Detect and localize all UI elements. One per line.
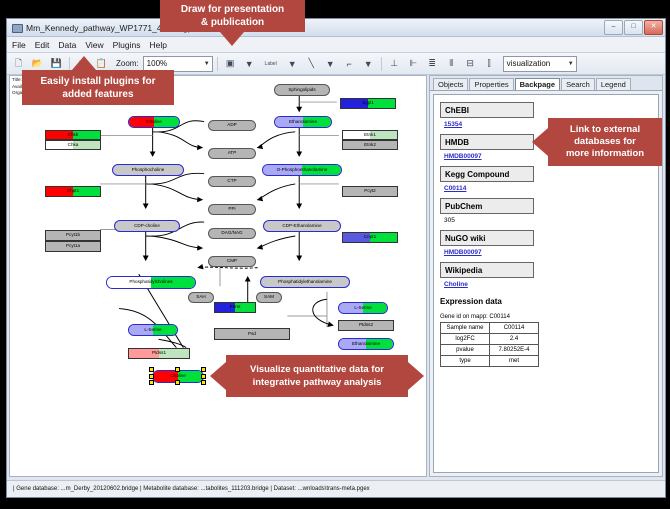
node-label: Sphingolipids <box>288 88 315 93</box>
selection-handle[interactable] <box>175 367 180 372</box>
metabolite-node-ppi[interactable]: PPi <box>208 204 256 215</box>
callout-visualize-line2: integrative pathway analysis <box>253 376 382 389</box>
panel-tabs: Objects Properties Backpage Search Legen… <box>430 76 662 91</box>
maximize-button[interactable]: □ <box>624 20 643 35</box>
node-label: Ethanolamine <box>289 120 317 125</box>
db-link-wikipedia[interactable]: Choline <box>444 281 658 288</box>
close-button[interactable]: ✕ <box>644 20 663 35</box>
menu-bar: File Edit Data View Plugins Help <box>7 37 665 53</box>
tab-properties[interactable]: Properties <box>469 78 513 90</box>
tab-objects[interactable]: Objects <box>433 78 468 90</box>
node-label: Pcyt2 <box>364 189 376 194</box>
gene-node-pcyt1a[interactable]: Pcyt1a <box>45 241 101 252</box>
callout-links-line3: more information <box>566 148 644 160</box>
callout-links-line1: Link to external <box>570 124 640 136</box>
expr-key-log2fc: log2FC <box>441 334 490 345</box>
metabolite-node-sah[interactable]: SAH <box>188 292 214 303</box>
node-label: Phosphatidylethanolamine <box>278 280 332 285</box>
metabolite-node-l-serine-right[interactable]: L-Serine <box>338 302 388 314</box>
expression-table: Sample name C00114 log2FC 2.4 pvalue 7.8… <box>440 322 539 367</box>
chevron-down-icon[interactable]: ▼ <box>204 61 212 67</box>
node-label: L-Serine <box>354 306 371 311</box>
align-top-icon[interactable]: ⊥ <box>386 55 403 72</box>
line-dropdown-icon[interactable]: ▼ <box>322 55 339 72</box>
callout-plugins: Easily install plugins for added feature… <box>22 70 174 105</box>
toolbar-separator <box>69 57 70 71</box>
callout-links-line2: databases for <box>574 136 636 148</box>
node-label: CTP <box>227 179 236 184</box>
tab-legend[interactable]: Legend <box>596 78 631 90</box>
db-link-nugo-wiki[interactable]: HMDB00097 <box>444 249 658 256</box>
node-label: Pcyt1a <box>66 244 80 249</box>
node-label: Psd <box>248 332 256 337</box>
node-label: Phosphatidylcholines <box>129 280 172 285</box>
node-label: Phosphocholine <box>132 168 165 173</box>
node-label: Chka <box>68 143 79 148</box>
metabolite-node-cdp-ethanolamine[interactable]: CDP-Ethanolamine <box>263 220 341 232</box>
status-bar: | Gene database: ...m_Derby_20120602.bri… <box>7 480 665 497</box>
callout-visualize-line1: Visualize quantitative data for <box>250 363 384 376</box>
node-label: Ethanolamine <box>352 342 380 347</box>
node-label: CDP-choline <box>134 224 160 229</box>
db-header-nugo-wiki: NuGO wiki <box>440 230 534 246</box>
db-header-wikipedia: Wikipedia <box>440 262 534 278</box>
selection-handle[interactable] <box>149 367 154 372</box>
node-label: SAM <box>264 295 274 300</box>
callout-plugins-arrow-icon <box>72 56 96 70</box>
align-left-icon[interactable]: ⊩ <box>405 55 422 72</box>
receptor-icon[interactable]: ⌐ <box>341 55 358 72</box>
common-size-icon[interactable]: ⊟ <box>462 55 479 72</box>
selection-handle[interactable] <box>149 374 154 379</box>
db-value-pubchem: 305 <box>444 217 658 224</box>
metabolite-node-o-phosphoethanolamine[interactable]: O-Phosphoethanolamine <box>262 164 342 176</box>
node-label: Choline <box>146 120 162 125</box>
callout-visualize-arrow-right-icon <box>408 362 424 390</box>
title-bar: Mm_Kennedy_pathway_WP1771_45176.gpml – □… <box>7 19 665 37</box>
gene-node-ptdss1[interactable]: Ptdss1 <box>128 348 190 359</box>
label-dropdown-icon[interactable]: ▼ <box>284 55 301 72</box>
expr-val-sample-name: C00114 <box>490 323 539 334</box>
node-label: Chpt1 <box>67 189 79 194</box>
distribute-icon[interactable]: ⦀ <box>443 55 460 72</box>
screenshot-root: Mm_Kennedy_pathway_WP1771_45176.gpml – □… <box>0 0 670 509</box>
metabolite-node-l-serine-left[interactable]: L-Serine <box>128 324 178 336</box>
metabolite-node-ethanolamine-right[interactable]: Ethanolamine <box>338 338 394 350</box>
table-row: type met <box>441 356 539 367</box>
expr-key-pvalue: pvalue <box>441 345 490 356</box>
order-icon[interactable]: ⫿ <box>481 55 498 72</box>
metabolite-node-ethanolamine-top[interactable]: Ethanolamine <box>274 116 332 128</box>
node-label: Chkb <box>68 133 79 138</box>
menu-item-file[interactable]: File <box>12 40 26 50</box>
chevron-down-icon[interactable]: ▼ <box>568 61 576 67</box>
receptor-dropdown-icon[interactable]: ▼ <box>360 55 377 72</box>
selection-handle[interactable] <box>201 367 206 372</box>
expr-key-type: type <box>441 356 490 367</box>
table-row: pvalue 7.80252E-4 <box>441 345 539 356</box>
callout-draw-line1: Draw for presentation <box>181 3 284 16</box>
line-icon[interactable]: ╲ <box>303 55 320 72</box>
gene-node-cept1[interactable]: Cept1 <box>342 232 398 243</box>
node-label: PPi <box>228 207 235 212</box>
node-label: Pemt <box>230 305 241 310</box>
metabolite-node-sphingolipids[interactable]: Sphingolipids <box>274 84 330 96</box>
metabolite-node-phosphatidylethanolamine[interactable]: Phosphatidylethanolamine <box>260 276 350 288</box>
db-header-hmdb: HMDB <box>440 134 534 150</box>
gene-node-pcyt1b[interactable]: Pcyt1b <box>45 230 101 241</box>
metabolite-node-atp[interactable]: ATP <box>208 148 256 159</box>
node-label: L-Serine <box>144 328 161 333</box>
gene-node-etnk2[interactable]: Etnk2 <box>342 140 398 150</box>
gene-id-label: Gene id on mapp: C00114 <box>440 314 658 320</box>
tab-backpage[interactable]: Backpage <box>515 78 560 90</box>
tab-search[interactable]: Search <box>561 78 595 90</box>
node-label: CMP <box>227 259 237 264</box>
callout-draw-arrow-icon <box>220 32 244 46</box>
node-label: Ptdss2 <box>359 323 373 328</box>
visualization-value: visualization <box>504 59 551 68</box>
toolbar-separator <box>217 57 218 71</box>
node-label: O-Phosphoethanolamine <box>277 168 328 173</box>
callout-links: Link to external databases for more info… <box>548 118 662 166</box>
metabolite-node-dag-nag[interactable]: DAG/NAG <box>208 228 256 239</box>
pathway-canvas[interactable]: Title: Availa Organ <box>9 75 427 477</box>
node-label: ADP <box>227 123 236 128</box>
selection-handle[interactable] <box>149 380 154 385</box>
selection-handle[interactable] <box>175 380 180 385</box>
gene-node-etnk1[interactable]: Etnk1 <box>342 130 398 140</box>
node-label: DAG/NAG <box>221 231 242 236</box>
toolbar-separator <box>381 57 382 71</box>
minimize-button[interactable]: – <box>604 20 623 35</box>
expression-data-heading: Expression data <box>440 297 658 306</box>
gene-node-chkb[interactable]: Chkb <box>45 130 101 140</box>
menu-item-data[interactable]: Data <box>58 40 76 50</box>
callout-plugins-line2: added features <box>62 88 133 101</box>
expr-val-log2fc: 2.4 <box>490 334 539 345</box>
zoom-label: Zoom: <box>116 59 139 68</box>
gene-node-pcyt2[interactable]: Pcyt2 <box>342 186 398 197</box>
label-icon[interactable]: Label <box>260 55 282 72</box>
node-label: CDP-Ethanolamine <box>282 224 321 229</box>
selection-handle[interactable] <box>201 374 206 379</box>
gene-node-psd[interactable]: Psd <box>214 328 290 340</box>
expr-val-type: met <box>490 356 539 367</box>
gene-node-sgpl1[interactable]: Sgpl1 <box>340 98 396 109</box>
db-link-kegg-compound[interactable]: C00114 <box>444 185 658 192</box>
visualization-combobox[interactable]: visualization ▼ <box>503 56 577 72</box>
metabolite-node-adp[interactable]: ADP <box>208 120 256 131</box>
callout-visualize-arrow-left-icon <box>210 362 226 390</box>
metabolite-node-phosphocholine[interactable]: Phosphocholine <box>112 164 184 176</box>
node-label: Cept1 <box>364 235 376 240</box>
menu-item-edit[interactable]: Edit <box>35 40 50 50</box>
node-label: SAH <box>196 295 205 300</box>
app-icon <box>11 22 22 33</box>
metabolite-node-ctp[interactable]: CTP <box>208 176 256 187</box>
gene-node-ptdss2[interactable]: Ptdss2 <box>338 320 394 331</box>
datanode-icon[interactable]: ▣ <box>222 55 239 72</box>
node-label: Choline <box>170 374 186 379</box>
db-header-kegg-compound: Kegg Compound <box>440 166 534 182</box>
table-row: log2FC 2.4 <box>441 334 539 345</box>
callout-draw: Draw for presentation & publication <box>160 0 305 32</box>
db-header-chebi: ChEBI <box>440 102 534 118</box>
selection-handle[interactable] <box>201 380 206 385</box>
callout-plugins-line1: Easily install plugins for <box>40 75 155 88</box>
expr-val-pvalue: 7.80252E-4 <box>490 345 539 356</box>
menu-item-plugins[interactable]: Plugins <box>113 40 141 50</box>
node-label: Etnk2 <box>364 143 376 148</box>
menu-item-view[interactable]: View <box>85 40 103 50</box>
stack-icon[interactable]: ≣ <box>424 55 441 72</box>
node-label: Etnk1 <box>364 133 376 138</box>
db-header-pubchem: PubChem <box>440 198 534 214</box>
callout-links-arrow-icon <box>532 128 548 156</box>
callout-draw-line2: & publication <box>201 16 264 29</box>
metabolite-node-cdp-choline[interactable]: CDP-choline <box>114 220 180 232</box>
zoom-value: 100% <box>144 59 167 68</box>
metabolite-node-cmp[interactable]: CMP <box>208 256 256 267</box>
callout-visualize: Visualize quantitative data for integrat… <box>226 355 408 397</box>
table-row: Sample name C00114 <box>441 323 539 334</box>
gene-node-chka[interactable]: Chka <box>45 140 101 150</box>
status-text: | Gene database: ...m_Derby_20120602.bri… <box>7 486 370 492</box>
window-controls: – □ ✕ <box>604 20 665 35</box>
node-label: Sgpl1 <box>362 101 374 106</box>
metabolite-node-phosphatidylcholines[interactable]: Phosphatidylcholines <box>106 276 196 289</box>
node-label: Ptdss1 <box>152 351 166 356</box>
node-label: Pcyt1b <box>66 233 80 238</box>
gene-node-pemt[interactable]: Pemt <box>214 302 256 313</box>
menu-item-help[interactable]: Help <box>150 40 167 50</box>
metabolite-node-choline-top[interactable]: Choline <box>128 116 180 128</box>
expr-key-sample-name: Sample name <box>441 323 490 334</box>
gene-node-chpt1[interactable]: Chpt1 <box>45 186 101 197</box>
metabolite-node-sam[interactable]: SAM <box>256 292 282 303</box>
datanode-dropdown-icon[interactable]: ▼ <box>241 55 258 72</box>
node-label: ATP <box>228 151 237 156</box>
